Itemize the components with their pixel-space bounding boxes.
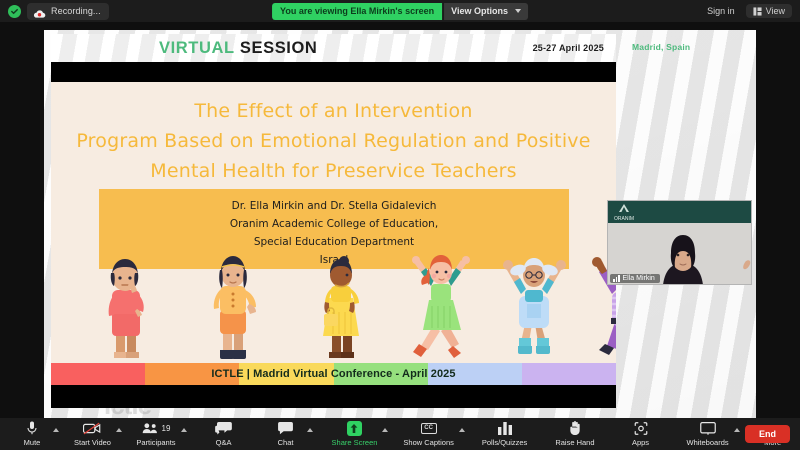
start-video-label: Start Video	[74, 438, 111, 447]
slide-header-main: SESSION	[240, 39, 318, 57]
child-figure-4	[403, 248, 481, 364]
whiteboards-options-chevron[interactable]	[731, 418, 743, 450]
presenter-name-badge: Ella Mirkin	[610, 274, 660, 283]
share-screen-label: Share Screen	[332, 438, 378, 447]
mute-button[interactable]: Mute	[14, 421, 50, 447]
author-line-2: Oranim Academic College of Education,	[99, 215, 569, 233]
participants-count: 19	[162, 424, 171, 433]
raise-hand-button[interactable]: Raise Hand	[553, 421, 596, 447]
participants-icon: 19	[142, 421, 171, 435]
slide-bottom-bar	[51, 385, 616, 408]
chevron-up-icon	[459, 428, 465, 432]
top-bar-right: Sign in View	[700, 4, 792, 18]
view-label: View	[766, 6, 785, 16]
participants-label: Participants	[136, 438, 175, 447]
video-off-icon	[83, 421, 101, 435]
chevron-up-icon	[181, 428, 187, 432]
captions-options-chevron[interactable]	[456, 418, 468, 450]
presenter-video-thumbnail[interactable]: ORANIM Ella Mirkin	[607, 200, 752, 285]
share-options-chevron[interactable]	[379, 418, 391, 450]
whiteboard-icon	[700, 421, 716, 435]
recording-label: Recording...	[51, 6, 101, 16]
chat-options-chevron[interactable]	[304, 418, 316, 450]
slide-title-line-3: Mental Health for Preservice Teachers	[51, 156, 616, 186]
view-layout-button[interactable]: View	[746, 4, 792, 18]
recording-cloud-icon	[33, 6, 46, 16]
view-options-label: View Options	[451, 6, 508, 16]
chevron-up-icon	[53, 428, 59, 432]
sign-in-button[interactable]: Sign in	[700, 4, 742, 18]
start-video-button[interactable]: Start Video	[72, 421, 113, 447]
chevron-up-icon	[307, 428, 313, 432]
viewing-screen-banner: You are viewing Ella Mirkin's screen Vie…	[272, 3, 528, 20]
share-screen-icon	[347, 421, 362, 435]
apps-icon	[634, 421, 648, 435]
shield-check-icon[interactable]	[8, 5, 21, 18]
author-line-1: Dr. Ella Mirkin and Dr. Stella Gidalevic…	[99, 197, 569, 215]
slide-title-line-2: Program Based on Emotional Regulation an…	[51, 126, 616, 156]
top-bar-left: Recording...	[0, 3, 109, 20]
slide-header-date: 25-27 April 2025	[533, 43, 604, 53]
chevron-down-icon	[515, 9, 521, 13]
oranim-logo-text: ORANIM	[614, 217, 634, 223]
presentation-slide: VIRTUAL SESSION 25-27 April 2025 The Eff…	[51, 34, 616, 408]
recording-indicator[interactable]: Recording...	[27, 3, 109, 20]
share-screen-button[interactable]: Share Screen	[330, 421, 380, 447]
slide-title-line-1: The Effect of an Intervention	[51, 96, 616, 126]
sign-in-label: Sign in	[707, 6, 735, 16]
signal-bars-icon	[613, 275, 620, 282]
meeting-toolbar: Mute Start Video 19 Participants Q&A Cha…	[0, 418, 800, 450]
chevron-up-icon	[382, 428, 388, 432]
slide-black-divider	[51, 62, 616, 82]
apps-button[interactable]: Apps	[623, 421, 659, 447]
participants-options-chevron[interactable]	[178, 418, 190, 450]
oranim-logo: ORANIM	[614, 204, 634, 223]
video-options-chevron[interactable]	[113, 418, 125, 450]
polls-quizzes-button[interactable]: Polls/Quizzes	[480, 421, 529, 447]
chevron-up-icon	[734, 428, 740, 432]
raise-hand-label: Raise Hand	[555, 438, 594, 447]
slide-header-title: VIRTUAL SESSION	[159, 39, 317, 58]
mute-label: Mute	[24, 438, 41, 447]
whiteboards-label: Whiteboards	[687, 438, 729, 447]
layout-view-icon	[753, 7, 762, 16]
participants-button[interactable]: 19 Participants	[134, 421, 177, 447]
closed-captions-icon: CC	[421, 421, 437, 435]
polls-quizzes-label: Polls/Quizzes	[482, 438, 527, 447]
top-bar: Recording... You are viewing Ella Mirkin…	[0, 0, 800, 22]
view-options-button[interactable]: View Options	[444, 3, 528, 20]
whiteboards-button[interactable]: Whiteboards	[685, 421, 731, 447]
slide-body: The Effect of an Intervention Program Ba…	[51, 82, 616, 408]
show-captions-label: Show Captions	[403, 438, 453, 447]
microphone-icon	[27, 421, 37, 435]
apps-label: Apps	[632, 438, 649, 447]
qa-bubbles-icon	[215, 421, 232, 435]
video-thumb-body: Ella Mirkin	[608, 223, 751, 285]
qa-label: Q&A	[216, 438, 232, 447]
child-figure-3	[307, 252, 371, 364]
slide-title: The Effect of an Intervention Program Ba…	[51, 96, 616, 186]
show-captions-button[interactable]: CC Show Captions	[401, 421, 455, 447]
slide-header-accent: VIRTUAL	[159, 39, 235, 57]
presenter-name: Ella Mirkin	[623, 275, 655, 282]
video-thumb-banner: ORANIM	[608, 201, 751, 223]
chat-bubble-icon	[278, 421, 293, 435]
qa-button[interactable]: Q&A	[206, 421, 242, 447]
meeting-stage: ictle Teaching and Learning Madrid, Spai…	[0, 22, 800, 418]
child-figure-5	[493, 248, 577, 364]
children-illustration	[51, 244, 616, 364]
shared-screen-region[interactable]: ictle Teaching and Learning Madrid, Spai…	[44, 30, 756, 418]
mute-options-chevron[interactable]	[50, 418, 62, 450]
child-figure-1	[93, 252, 155, 364]
slide-header: VIRTUAL SESSION 25-27 April 2025	[51, 34, 616, 62]
chat-button[interactable]: Chat	[268, 421, 304, 447]
end-meeting-button[interactable]: End	[745, 425, 790, 443]
raise-hand-icon	[569, 421, 581, 435]
viewing-screen-label: You are viewing Ella Mirkin's screen	[272, 3, 442, 20]
polls-bar-icon	[498, 421, 512, 435]
chat-label: Chat	[278, 438, 294, 447]
location-label: Madrid, Spain	[632, 42, 690, 52]
chevron-up-icon	[116, 428, 122, 432]
child-figure-2	[199, 252, 265, 364]
slide-footer-text: ICTLE | Madrid Virtual Conference - Apri…	[51, 363, 616, 385]
